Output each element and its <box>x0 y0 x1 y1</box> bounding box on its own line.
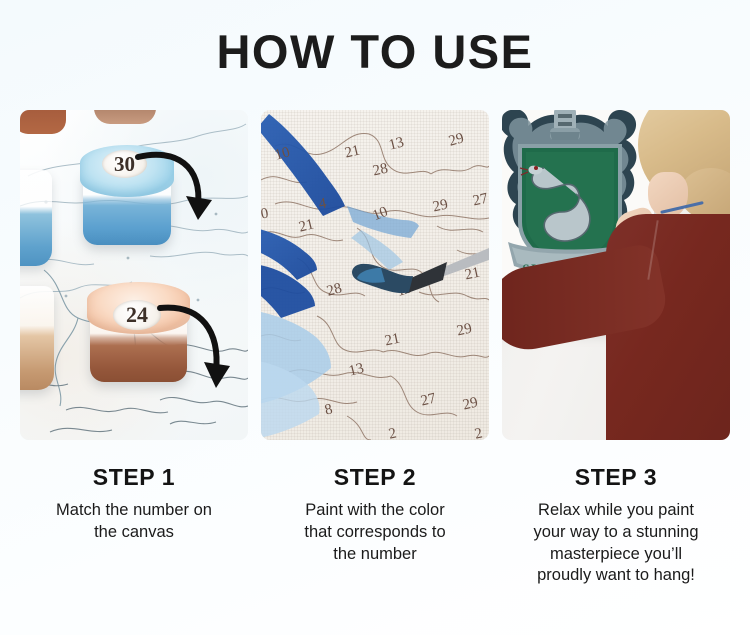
step-3-photo: SLYTHERIN <box>502 110 730 440</box>
step-3-caption: Relax while you paint your way to a stun… <box>502 500 730 587</box>
step-column-3: SLYTHERIN STEP 3 Relax while you paint y… <box>502 110 730 587</box>
step-1-caption: Match the number on the canvas <box>20 500 248 544</box>
step-2-caption: Paint with the color that corresponds to… <box>261 500 489 565</box>
step-1-photo: 30 24 <box>20 110 248 440</box>
paintbrush-icon <box>261 110 489 440</box>
step-1-heading: STEP 1 <box>20 464 248 491</box>
step-column-2: 10 21 13 29 28 4 10 29 27 0 21 28 10 21 … <box>261 110 489 587</box>
step-2-photo: 10 21 13 29 28 4 10 29 27 0 21 28 10 21 … <box>261 110 489 440</box>
step-column-1: 30 24 STEP 1 Match the number on the can… <box>20 110 248 587</box>
page-title: HOW TO USE <box>0 0 750 75</box>
curved-arrow-icon-2 <box>20 110 248 440</box>
step-2-heading: STEP 2 <box>261 464 489 491</box>
steps-row: 30 24 STEP 1 Match the number on the can… <box>20 110 730 587</box>
step-3-heading: STEP 3 <box>502 464 730 491</box>
